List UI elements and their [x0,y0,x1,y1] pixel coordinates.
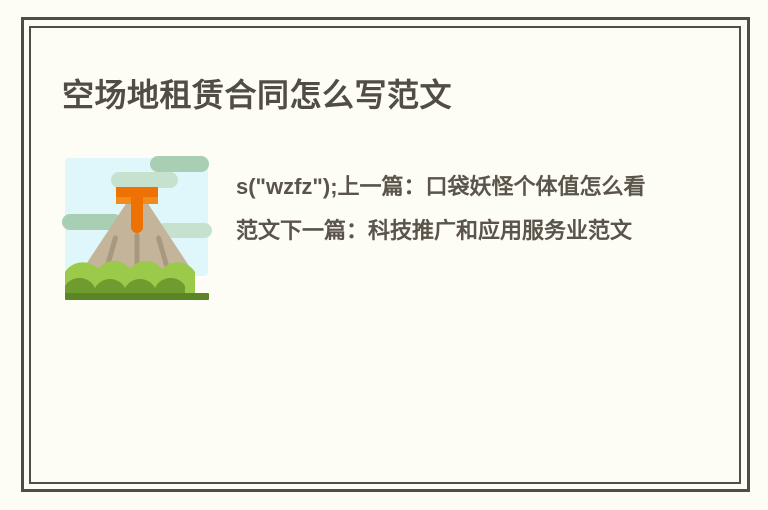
article-content: s("wzfz");上一篇：口袋妖怪个体值怎么看范文下一篇：科技推广和应用服务业… [62,153,719,303]
page-title: 空场地租赁合同怎么写范文 [62,75,682,115]
volcano-icon [62,153,212,303]
article-card: 空场地租赁合同怎么写范文 [31,28,739,482]
article-frame-outer: 空场地租赁合同怎么写范文 [21,17,750,492]
article-thumbnail [62,153,212,303]
article-excerpt: s("wzfz");上一篇：口袋妖怪个体值怎么看范文下一篇：科技推广和应用服务业… [236,153,648,253]
page-root: 空场地租赁合同怎么写范文 [0,0,768,510]
article-frame-inner: 空场地租赁合同怎么写范文 [29,26,741,484]
